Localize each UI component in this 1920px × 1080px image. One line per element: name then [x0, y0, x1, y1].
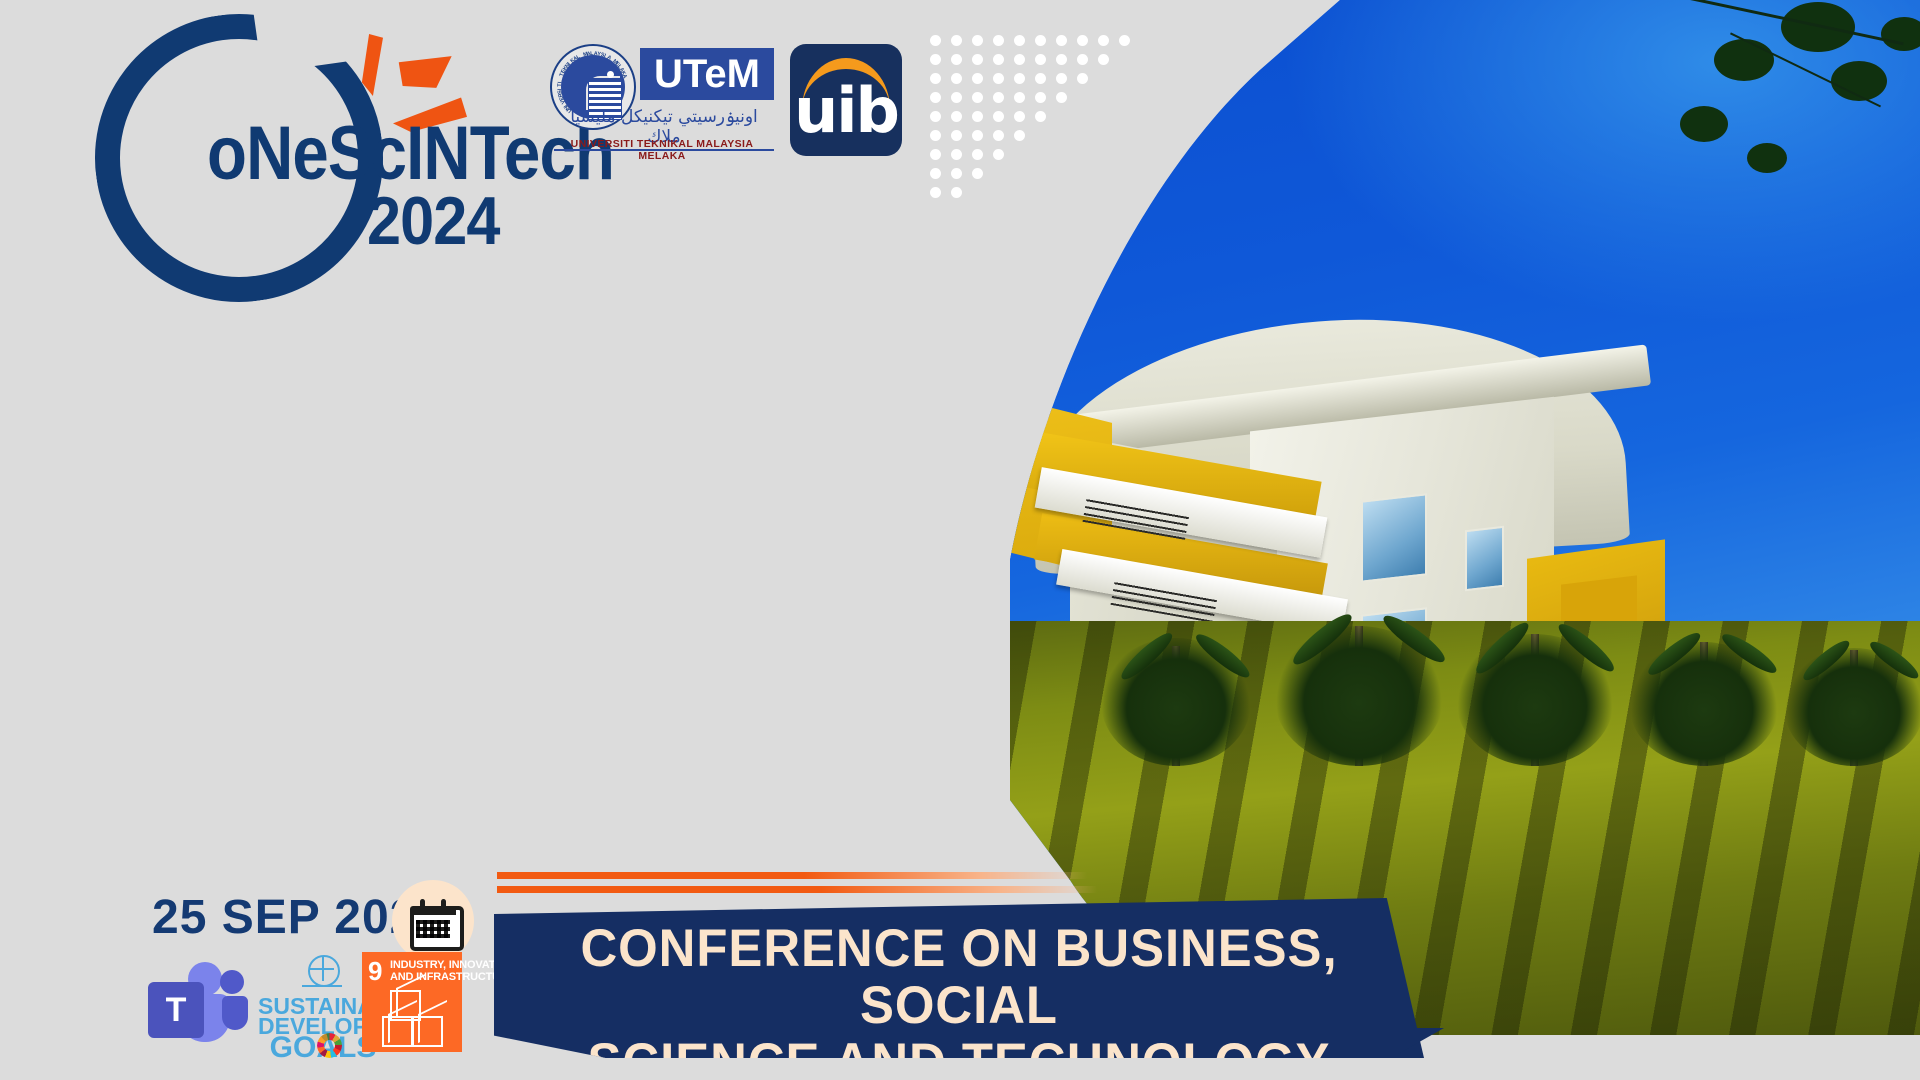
utem-name-plate: UTeM	[640, 48, 774, 100]
event-logo: oNeScINTech 2024	[95, 14, 555, 264]
palm-tree	[1101, 536, 1251, 766]
united-nations-emblem-icon	[302, 955, 342, 989]
event-year: 2024	[367, 182, 500, 260]
dot-grid-pattern	[930, 35, 1140, 210]
palm-tree	[1784, 554, 1920, 766]
sdg-goal-9-tile: 9 INDUSTRY, INNOVATION AND INFRASTRUCTUR…	[362, 952, 462, 1052]
banner-canvas: oNeScINTech 2024 UNIVERSITI TEKNIKAL MAL…	[0, 0, 1920, 1080]
sdg-color-wheel-icon	[317, 1033, 342, 1058]
orange-rule-top	[497, 872, 1087, 879]
uib-name-text: uib	[790, 80, 902, 142]
palm-tree	[1456, 528, 1614, 766]
conference-title-line-1: CONFERENCE ON BUSINESS, SOCIAL	[555, 920, 1363, 1034]
orange-rule-bottom	[497, 886, 1097, 893]
partner-logo-utem: UNIVERSITI TEKNIKAL MALAYSIA MELAKA UTeM…	[550, 42, 775, 160]
microsoft-teams-logo: T	[142, 960, 250, 1048]
calendar-icon	[392, 880, 474, 962]
cubes-icon	[382, 990, 444, 1046]
sdg-goal-number: 9	[368, 958, 382, 984]
conference-title-banner: CONFERENCE ON BUSINESS, SOCIAL SCIENCE A…	[494, 898, 1424, 1058]
teams-mark: T	[148, 982, 204, 1038]
utem-subtitle: UNIVERSITI TEKNIKAL MALAYSIA MELAKA	[550, 138, 774, 162]
tree-branch	[1538, 0, 1920, 352]
utem-name-text: UTeM	[654, 54, 760, 94]
partner-logo-uib: uib	[790, 44, 902, 156]
palm-tree	[1629, 542, 1779, 766]
palm-tree	[1274, 516, 1444, 766]
conference-title-line-2: SCIENCE AND TECHNOLOGY	[555, 1034, 1363, 1080]
campus-photo	[1010, 0, 1920, 1035]
